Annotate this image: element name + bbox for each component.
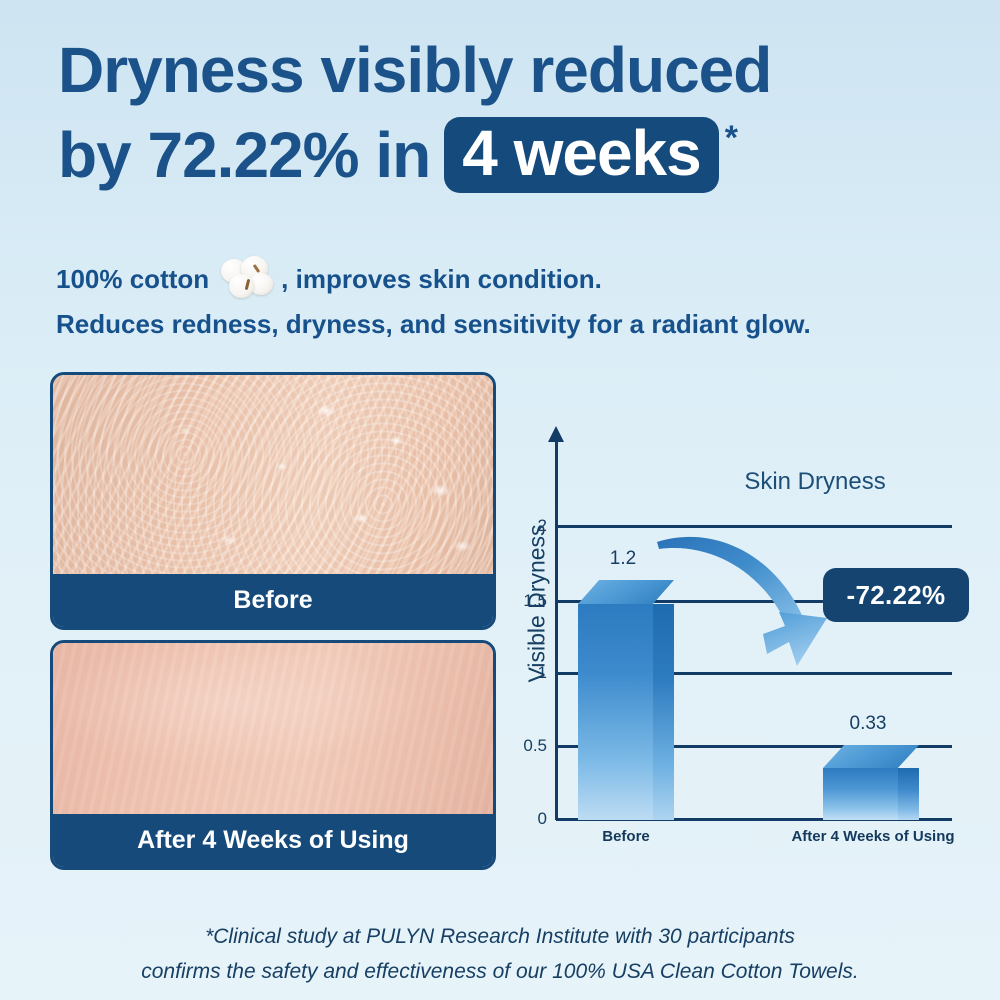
before-skin-photo [53,375,493,574]
ytick-label-1p5: 1.5 [511,591,547,611]
footnote-line-1: *Clinical study at PULYN Research Instit… [0,920,1000,955]
gridline-2 [556,525,952,528]
subtitle-line-1: 100% cotton , improves skin condition. [56,255,956,303]
subtitle: 100% cotton , improves skin condition. R… [56,255,956,345]
y-axis-line [555,438,558,820]
reduction-badge: -72.22% [823,568,969,622]
bar-before-category-label: Before [581,828,671,845]
skin-dryness-chart: Skin Dryness Visible Dryness 2 1.5 1 0.5… [505,430,985,870]
headline: Dryness visibly reduced by 72.22% in 4 w… [58,38,958,193]
ytick-label-2: 2 [511,516,547,536]
ytick-label-0p5: 0.5 [511,736,547,756]
bar-after-top-face [823,745,919,768]
headline-line-2: by 72.22% in 4 weeks * [58,117,958,193]
before-photo-panel: Before [50,372,496,630]
headline-line-1: Dryness visibly reduced [58,38,958,103]
bar-after [823,745,919,820]
bar-after-front-face [823,768,898,820]
before-caption: Before [53,574,493,627]
after-caption: After 4 Weeks of Using [53,814,493,867]
cotton-boll-icon [219,255,277,303]
decline-arrow-icon [655,530,875,720]
after-photo-panel: After 4 Weeks of Using [50,640,496,870]
bar-before-value-label: 1.2 [583,548,663,570]
subtitle-line-2: Reduces redness, dryness, and sensitivit… [56,303,956,345]
infographic-root: Dryness visibly reduced by 72.22% in 4 w… [0,0,1000,1000]
footnote-line-2: confirms the safety and effectiveness of… [0,955,1000,990]
chart-title: Skin Dryness [665,468,965,496]
headline-line-2-text: by 72.22% in [58,123,430,188]
headline-pill-badge: 4 weeks [444,117,719,193]
after-skin-photo [53,643,493,814]
ytick-label-1: 1 [511,663,547,683]
bar-after-side-face [898,768,919,820]
asterisk-marker: * [725,121,737,156]
subtitle-line-1-post: , improves skin condition. [281,258,602,300]
subtitle-line-1-pre: 100% cotton [56,258,209,300]
footnote: *Clinical study at PULYN Research Instit… [0,920,1000,989]
ytick-label-0: 0 [511,809,547,829]
bar-before-front-face [578,604,653,820]
bar-after-category-label: After 4 Weeks of Using [788,828,958,845]
